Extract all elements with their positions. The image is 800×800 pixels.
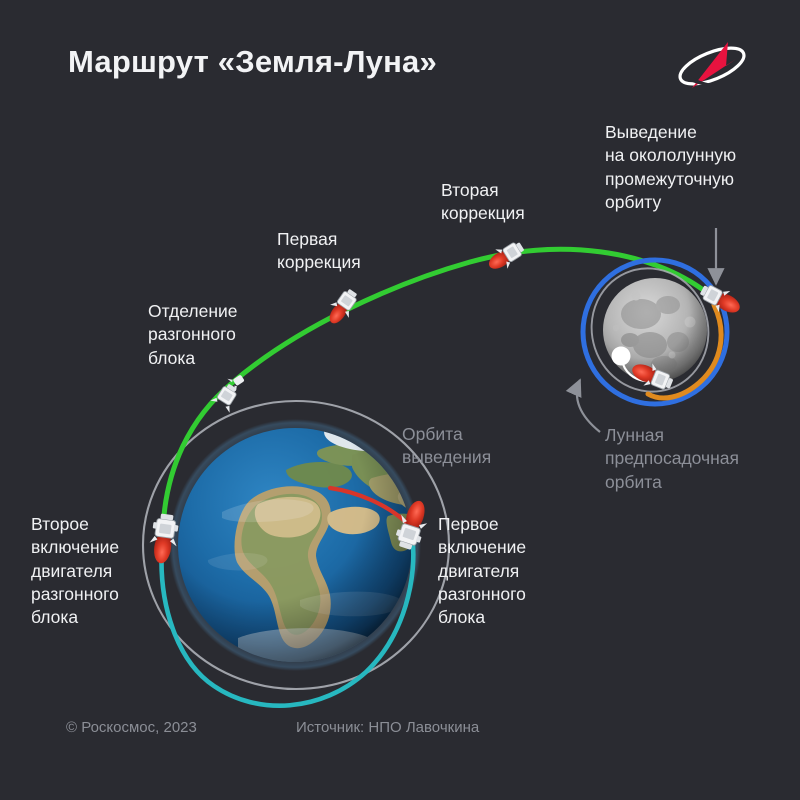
label-lunar-insertion: Выведение на окололунную промежуточную о… bbox=[605, 121, 736, 214]
label-separation: Отделение разгонного блока bbox=[148, 300, 238, 370]
label-prelanding-orbit: Лунная предпосадочная орбита bbox=[605, 424, 739, 494]
roscosmos-logo bbox=[675, 41, 748, 92]
footer-source: Источник: НПО Лавочкина bbox=[296, 719, 479, 736]
label-parking-orbit: Орбита выведения bbox=[402, 423, 491, 470]
label-second-correction: Вторая коррекция bbox=[441, 179, 525, 226]
landing-site-dot bbox=[612, 347, 631, 366]
label-first-burn: Первое включение двигателя разгонного бл… bbox=[438, 513, 526, 629]
label-second-burn: Второе включение двигателя разгонного бл… bbox=[31, 513, 119, 629]
label-first-correction: Первая коррекция bbox=[277, 228, 361, 275]
footer-copyright: © Роскосмос, 2023 bbox=[66, 719, 197, 736]
arrow-prelanding-orbit bbox=[577, 380, 600, 432]
page-title: Маршрут «Земля-Луна» bbox=[68, 44, 437, 80]
infographic-root: Маршрут «Земля-Луна» Отделение разгонног… bbox=[0, 0, 800, 800]
moon-globe bbox=[603, 278, 707, 382]
trajectory-scene bbox=[0, 0, 800, 800]
